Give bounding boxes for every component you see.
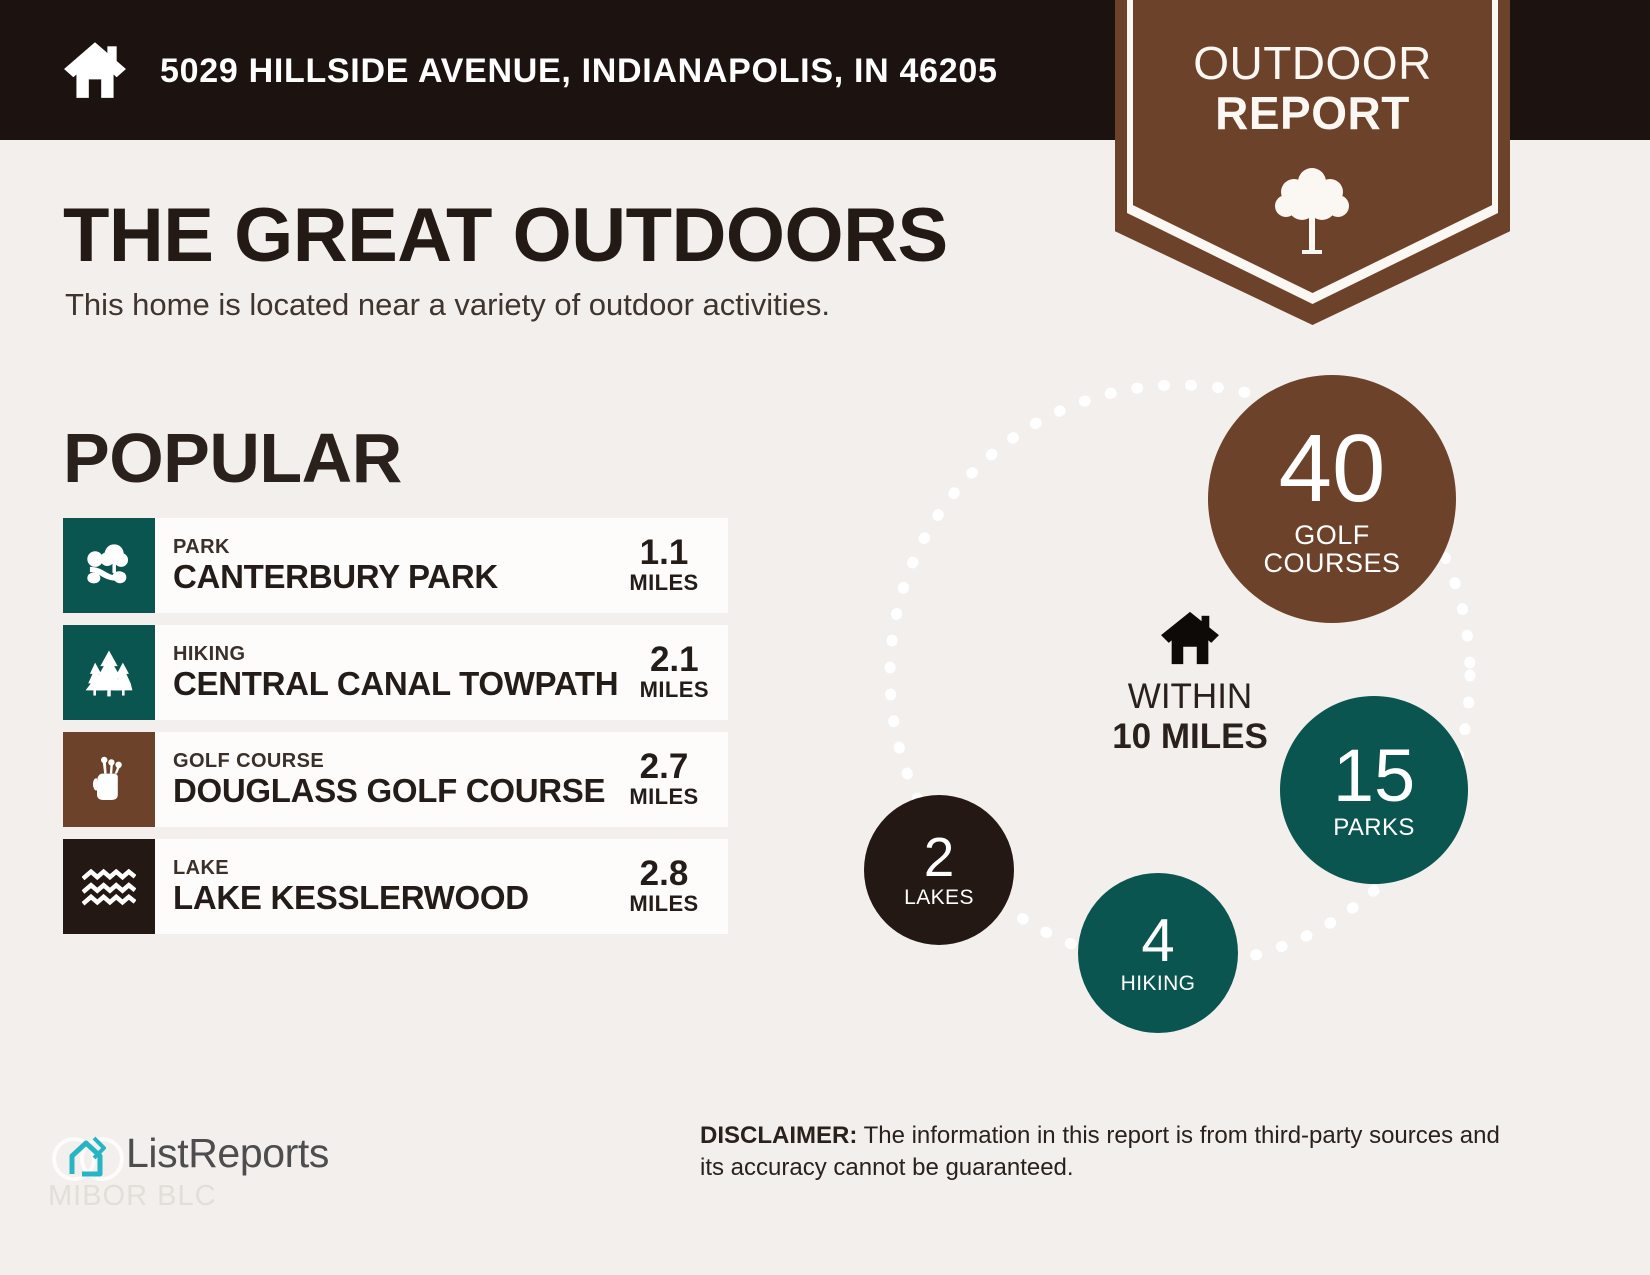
water-waves-icon	[63, 839, 155, 934]
list-item-name: LAKE KESSLERWOOD	[173, 879, 608, 916]
distance-value: 2.1	[650, 643, 699, 677]
list-item-distance: 1.1 MILES	[608, 518, 728, 613]
stat-value: 15	[1333, 739, 1415, 813]
page-subtitle: This home is located near a variety of o…	[65, 287, 830, 323]
list-item-distance: 2.7 MILES	[608, 732, 728, 827]
list-item-name: CANTERBURY PARK	[173, 558, 608, 595]
pine-trees-icon	[63, 625, 155, 720]
stat-value: 2	[924, 830, 955, 885]
badge-title: OUTDOOR REPORT	[1133, 38, 1492, 138]
distance-unit: MILES	[629, 570, 698, 596]
home-icon	[1159, 610, 1221, 666]
distance-value: 2.7	[640, 750, 689, 784]
mibor-blc-label: MIBOR BLC	[48, 1180, 217, 1213]
list-item[interactable]: HIKING CENTRAL CANAL TOWPATH 2.1 MILES	[63, 625, 728, 720]
stat-bubble-hiking[interactable]: 4 HIKING	[1078, 873, 1238, 1033]
home-icon	[62, 36, 128, 102]
badge-title-line2: REPORT	[1133, 88, 1492, 138]
stat-value: 40	[1279, 421, 1386, 517]
list-item-name: DOUGLASS GOLF COURSE	[173, 772, 608, 809]
popular-list: PARK CANTERBURY PARK 1.1 MILES	[63, 518, 728, 946]
stat-bubble-golf-courses[interactable]: 40 GOLF COURSES	[1208, 375, 1456, 623]
stat-label: PARKS	[1333, 815, 1415, 840]
diagram-center: WITHIN 10 MILES	[1040, 610, 1340, 757]
stat-value: 4	[1141, 911, 1174, 971]
distance-value: 1.1	[640, 536, 689, 570]
badge-title-line1: OUTDOOR	[1193, 37, 1432, 89]
listreports-logo[interactable]: ListReports MIBOR BLC	[48, 1118, 378, 1228]
stat-label-line2: COURSES	[1263, 548, 1400, 578]
tree-icon	[1272, 166, 1352, 254]
golf-bag-icon	[63, 732, 155, 827]
list-item-name: CENTRAL CANAL TOWPATH	[173, 665, 618, 702]
stat-bubble-parks[interactable]: 15 PARKS	[1280, 696, 1468, 884]
property-address: 5029 HILLSIDE AVENUE, INDIANAPOLIS, IN 4…	[160, 52, 998, 91]
park-tree-path-icon	[63, 518, 155, 613]
outdoor-report-page: 5029 HILLSIDE AVENUE, INDIANAPOLIS, IN 4…	[0, 0, 1650, 1275]
list-item[interactable]: LAKE LAKE KESSLERWOOD 2.8 MILES	[63, 839, 728, 934]
distance-unit: MILES	[640, 677, 709, 703]
list-item-distance: 2.8 MILES	[608, 839, 728, 934]
stat-label: LAKES	[904, 887, 974, 909]
distance-unit: MILES	[629, 784, 698, 810]
disclaimer-label: DISCLAIMER:	[700, 1122, 857, 1149]
list-item-category: GOLF COURSE	[173, 750, 608, 772]
listreports-logo-text: ListReports	[126, 1130, 329, 1177]
within-label: WITHIN	[1040, 677, 1340, 717]
popular-heading: POPULAR	[63, 418, 402, 498]
list-item-category: HIKING	[173, 643, 618, 665]
stat-bubble-lakes[interactable]: 2 LAKES	[864, 795, 1014, 945]
distance-unit: MILES	[629, 891, 698, 917]
stat-label: GOLF COURSES	[1263, 521, 1400, 578]
list-item[interactable]: GOLF COURSE DOUGLASS GOLF COURSE 2.7 MIL…	[63, 732, 728, 827]
list-item-distance: 2.1 MILES	[618, 625, 738, 720]
distance-value: 2.8	[640, 857, 689, 891]
stat-label: HIKING	[1121, 973, 1196, 995]
list-item-category: LAKE	[173, 857, 608, 879]
list-item-category: PARK	[173, 536, 608, 558]
list-item[interactable]: PARK CANTERBURY PARK 1.1 MILES	[63, 518, 728, 613]
disclaimer: DISCLAIMER: The information in this repo…	[700, 1120, 1510, 1184]
stat-label-line1: GOLF	[1294, 520, 1370, 550]
page-title: THE GREAT OUTDOORS	[63, 192, 948, 279]
amenities-diagram: WITHIN 10 MILES 40 GOLF COURSES 15 PARKS…	[840, 355, 1540, 1055]
